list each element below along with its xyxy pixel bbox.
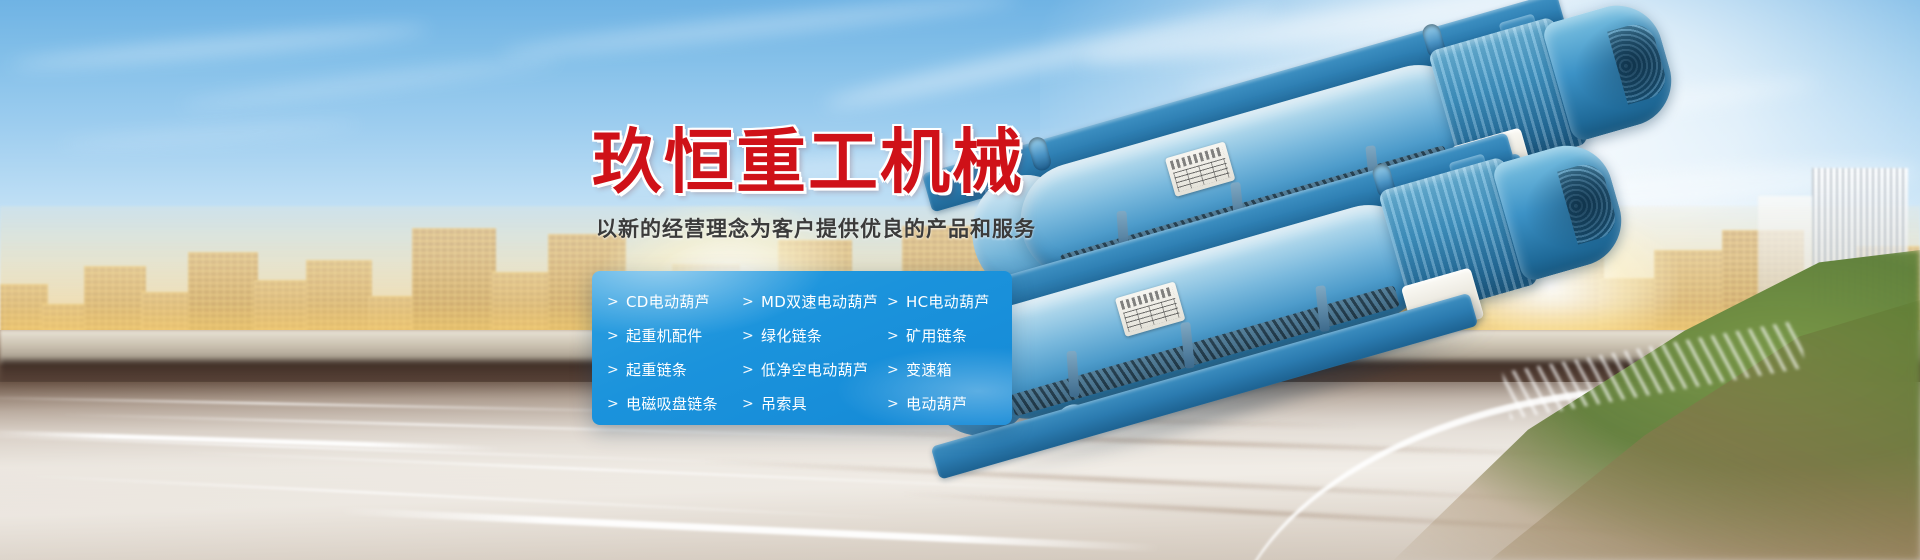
chevron-right-icon: > bbox=[607, 295, 619, 309]
product-links-panel: >CD电动葫芦>MD双速电动葫芦>HC电动葫芦>起重机配件>绿化链条>矿用链条>… bbox=[592, 271, 1012, 425]
company-headline: 玖恒重工机械 bbox=[592, 126, 1024, 198]
chevron-right-icon: > bbox=[607, 363, 619, 377]
product-link[interactable]: >绿化链条 bbox=[742, 329, 887, 344]
product-link[interactable]: >吊索具 bbox=[742, 397, 887, 412]
product-link[interactable]: >矿用链条 bbox=[887, 329, 1012, 344]
cloud-wisp-icon bbox=[501, 0, 1020, 61]
chevron-right-icon: > bbox=[742, 329, 754, 343]
chevron-right-icon: > bbox=[887, 397, 899, 411]
product-link[interactable]: >CD电动葫芦 bbox=[607, 295, 742, 310]
product-link-label: 低净空电动葫芦 bbox=[761, 363, 868, 378]
chevron-right-icon: > bbox=[742, 295, 754, 309]
product-link-label: MD双速电动葫芦 bbox=[761, 295, 878, 310]
chevron-right-icon: > bbox=[887, 329, 899, 343]
chevron-right-icon: > bbox=[742, 397, 754, 411]
product-link[interactable]: >低净空电动葫芦 bbox=[742, 363, 887, 378]
product-link-label: 电动葫芦 bbox=[906, 397, 967, 412]
product-link[interactable]: >变速箱 bbox=[887, 363, 1012, 378]
chevron-right-icon: > bbox=[607, 397, 619, 411]
product-link-label: 变速箱 bbox=[906, 363, 952, 378]
product-link-label: 绿化链条 bbox=[761, 329, 822, 344]
product-link[interactable]: >HC电动葫芦 bbox=[887, 295, 1012, 310]
company-subheadline: 以新的经营理念为客户提供优良的产品和服务 bbox=[596, 214, 1036, 244]
hero-banner: 玖恒重工机械 以新的经营理念为客户提供优良的产品和服务 >CD电动葫芦>MD双速… bbox=[0, 0, 1920, 560]
cloud-wisp-icon bbox=[10, 22, 430, 73]
chevron-right-icon: > bbox=[742, 363, 754, 377]
product-link[interactable]: >起重机配件 bbox=[607, 329, 742, 344]
product-link-label: 起重机配件 bbox=[626, 329, 703, 344]
product-link[interactable]: >起重链条 bbox=[607, 363, 742, 378]
product-link-label: 起重链条 bbox=[626, 363, 687, 378]
cloud-wisp-icon bbox=[181, 55, 559, 111]
product-link[interactable]: >MD双速电动葫芦 bbox=[742, 295, 887, 310]
chevron-right-icon: > bbox=[887, 363, 899, 377]
product-link[interactable]: >电动葫芦 bbox=[887, 397, 1012, 412]
product-link-label: 矿用链条 bbox=[906, 329, 967, 344]
chevron-right-icon: > bbox=[607, 329, 619, 343]
product-link[interactable]: >电磁吸盘链条 bbox=[607, 397, 742, 412]
product-link-label: CD电动葫芦 bbox=[626, 295, 710, 310]
product-link-label: 电磁吸盘链条 bbox=[626, 397, 718, 412]
product-link-label: 吊索具 bbox=[761, 397, 807, 412]
product-links-grid: >CD电动葫芦>MD双速电动葫芦>HC电动葫芦>起重机配件>绿化链条>矿用链条>… bbox=[592, 285, 1012, 421]
product-link-label: HC电动葫芦 bbox=[906, 295, 990, 310]
cloud-wisp-icon bbox=[60, 120, 360, 150]
chevron-right-icon: > bbox=[887, 295, 899, 309]
